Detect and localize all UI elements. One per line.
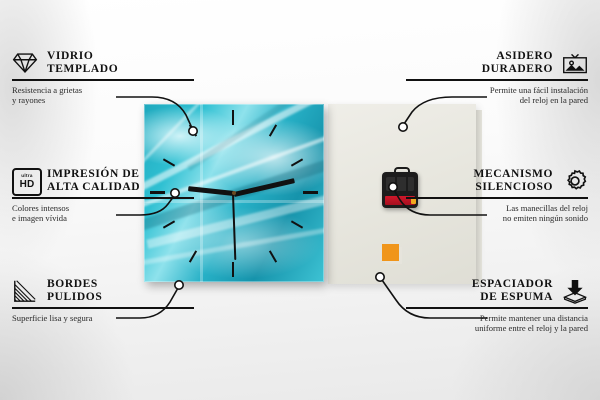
hd-badge-hd-text: HD [20,180,35,190]
feature-desc-line2: del reloj en la pared [406,95,588,105]
ultra-hd-badge-icon: ultra HD [12,168,38,194]
clock-tick [303,191,318,194]
feature-title-line2: SILENCIOSO [473,181,553,194]
feature-desc-line2: y rayones [12,95,194,105]
feature-title-line2: DURADERO [482,63,553,76]
feature-desc-line2: uniforme entre el reloj y la pared [406,323,588,333]
foam-spacer [382,244,399,261]
feature-desc-line1: Permite una fácil instalación [406,85,588,95]
diamond-icon [12,50,38,76]
feature-desc-line1: Superficie lisa y segura [12,313,194,323]
feature-vidrio-templado: VIDRIO TEMPLADO Resistencia a grietas y … [12,50,194,105]
feature-desc-line2: e imagen vívida [12,213,194,223]
clock-tick [232,110,234,125]
feature-asidero-duradero: ASIDERO DURADERO Permite una fácil insta… [406,50,588,105]
feature-title-line1: BORDES [47,278,102,291]
picture-frame-hanger-icon [562,50,588,76]
feature-title-line1: ESPACIADOR [472,278,553,291]
feature-rule [12,307,194,309]
feature-desc-line1: Las manecillas del reloj [406,203,588,213]
feature-mecanismo-silencioso: MECANISMO SILENCIOSO Las manecillas del … [406,168,588,223]
feature-title-line1: MECANISMO [473,168,553,181]
polished-edges-icon [12,278,38,304]
foam-spacer-icon [562,278,588,304]
feature-title-line2: DE ESPUMA [472,291,553,304]
product-infographic: VIDRIO TEMPLADO Resistencia a grietas y … [0,0,600,400]
feature-title-line2: TEMPLADO [47,63,118,76]
feature-title-line2: PULIDOS [47,291,102,304]
feature-desc-line1: Resistencia a grietas [12,85,194,95]
clock-tick [232,262,234,277]
feature-rule [12,197,194,199]
feature-desc-line1: Colores intensos [12,203,194,213]
feature-rule [12,79,194,81]
feature-title-line1: ASIDERO [482,50,553,63]
feature-title-line2: ALTA CALIDAD [47,181,140,194]
feature-rule [406,79,588,81]
feature-rule [406,307,588,309]
feature-espaciador-de-espuma: ESPACIADOR DE ESPUMA Permite mantener un… [406,278,588,333]
feature-desc-line1: Permite mantener una distancia [406,313,588,323]
feature-rule [406,197,588,199]
clock-center-pin [232,191,236,195]
feature-bordes-pulidos: BORDES PULIDOS Superficie lisa y segura [12,278,194,323]
feature-title-line1: VIDRIO [47,50,118,63]
feature-impresion-alta-calidad: ultra HD IMPRESIÓN DE ALTA CALIDAD Color… [12,168,194,223]
feature-title-line1: IMPRESIÓN DE [47,168,140,181]
feature-desc-line2: no emiten ningún sonido [406,213,588,223]
gear-icon [562,168,588,194]
